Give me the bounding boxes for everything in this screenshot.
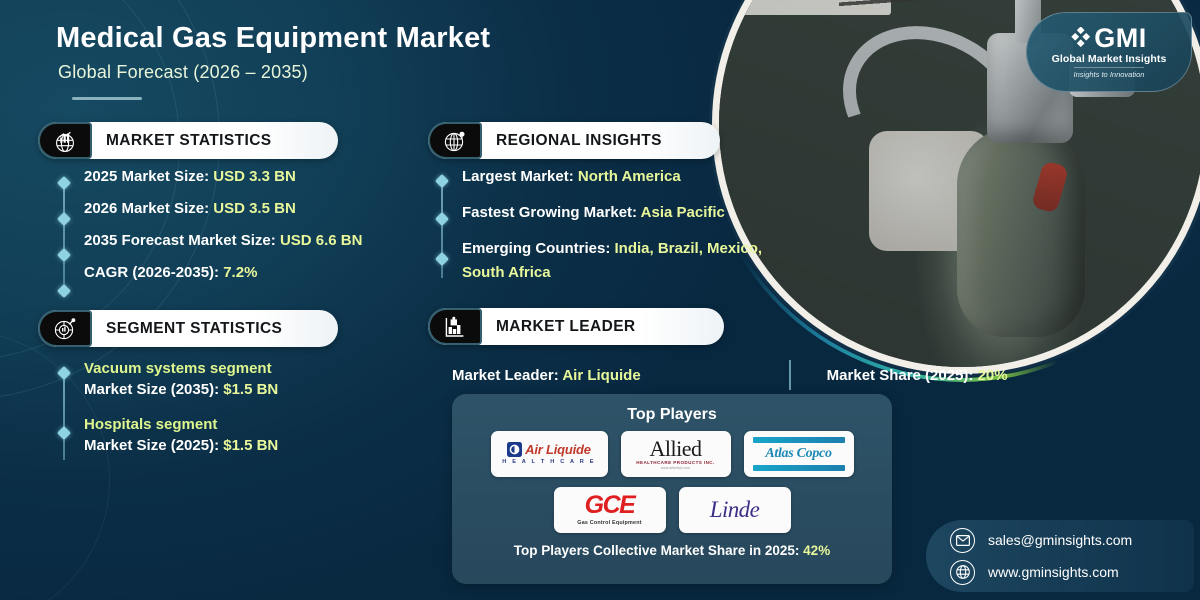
stat-value: USD 3.5 BN <box>213 200 296 217</box>
logo-linde[interactable]: Linde <box>679 487 791 533</box>
top-players-heading: Top Players <box>466 406 878 424</box>
rail-dot <box>57 176 71 190</box>
stat-label: 2025 Market Size: <box>84 168 213 185</box>
gce-mark: GCE Gas Control Equipment <box>577 493 641 526</box>
allied-name: Allied <box>649 438 701 460</box>
region-row-emerging: Emerging Countries: India, Brazil, Mexic… <box>462 240 762 257</box>
rail-dot <box>57 212 71 226</box>
logo-row-1: Air Liquide H E A L T H C A R E Allied H… <box>466 431 878 477</box>
stat-value: 7.2% <box>223 264 257 281</box>
diamond-logo-icon <box>1071 27 1091 51</box>
air-liquide-top: Air Liquide <box>507 442 591 457</box>
region-row-fastest: Fastest Growing Market: Asia Pacific <box>462 204 762 221</box>
allied-url: www.alliedhpi.com <box>661 467 691 471</box>
logo-allied-healthcare[interactable]: Allied HEALTHCARE PRODUCTS INC. www.alli… <box>621 431 731 477</box>
section-header-regional-insights: REGIONAL INSIGHTS <box>428 122 720 159</box>
segment-title: Vacuum systems segment <box>84 360 278 377</box>
market-statistics-list: 2025 Market Size: USD 3.3 BN 2026 Market… <box>58 168 362 296</box>
region-value-continued: South Africa <box>462 264 762 281</box>
rail-dot <box>435 212 449 226</box>
market-leader-name: Market Leader: Air Liquide <box>452 367 641 384</box>
rail-dot <box>435 174 449 188</box>
market-leader-row: Market Leader: Air Liquide Market Share … <box>452 360 1072 390</box>
segment-label: Market Size (2025): <box>84 437 223 454</box>
allied-mark: Allied HEALTHCARE PRODUCTS INC. www.alli… <box>636 438 714 470</box>
atlas-copco-name: Atlas Copco <box>765 446 831 462</box>
rail-dot <box>57 284 71 298</box>
bullet-rail <box>58 366 70 466</box>
rail-dot <box>57 248 71 262</box>
air-liquide-name: Air Liquide <box>525 443 591 456</box>
atlas-copco-mark: Atlas Copco <box>753 437 845 471</box>
segment-statistics-list: Vacuum systems segment Market Size (2035… <box>58 360 278 472</box>
segment-group-hospitals: Hospitals segment Market Size (2025): $1… <box>84 416 278 454</box>
globe-icon <box>950 560 975 585</box>
gce-sub: Gas Control Equipment <box>577 521 641 526</box>
gmi-logo-badge: GMI Global Market Insights Insights to I… <box>1026 12 1192 92</box>
region-value: North America <box>578 168 681 185</box>
globe-bar-chart-icon <box>38 122 92 159</box>
regional-insights-rows: Largest Market: North America Fastest Gr… <box>448 168 762 300</box>
logo-gce[interactable]: GCE Gas Control Equipment <box>554 487 666 533</box>
gmi-wordmark: GMI <box>1094 25 1147 52</box>
segment-row: Market Size (2035): $1.5 BN <box>84 381 278 398</box>
section-header-market-leader: MARKET LEADER <box>428 308 724 345</box>
segment-label: Market Size (2035): <box>84 381 223 398</box>
atlas-copco-bar-top <box>753 437 845 443</box>
region-label: Emerging Countries: <box>462 240 615 257</box>
top-players-panel: Top Players Air Liquide H E A L T H C A … <box>452 394 892 584</box>
logo-row-2: GCE Gas Control Equipment Linde <box>466 487 878 533</box>
market-statistics-rows: 2025 Market Size: USD 3.3 BN 2026 Market… <box>70 168 362 296</box>
rail-line <box>63 180 65 290</box>
contact-website: www.gminsights.com <box>988 564 1119 580</box>
segment-value: $1.5 BN <box>223 381 278 398</box>
linde-name: Linde <box>710 497 759 523</box>
region-label: Largest Market: <box>462 168 578 185</box>
title-underline <box>72 97 142 100</box>
pie-chart-segment-icon <box>38 310 92 347</box>
segment-value: $1.5 BN <box>223 437 278 454</box>
segment-group-vacuum: Vacuum systems segment Market Size (2035… <box>84 360 278 398</box>
atlas-copco-bar-bottom <box>753 465 845 471</box>
regional-insights-list: Largest Market: North America Fastest Gr… <box>436 168 762 300</box>
air-liquide-sub: H E A L T H C A R E <box>502 460 595 466</box>
air-liquide-mark: Air Liquide H E A L T H C A R E <box>502 442 595 466</box>
segment-title: Hospitals segment <box>84 416 278 433</box>
market-share: Market Share (2025): 20% <box>827 367 1008 384</box>
market-leader-value: Air Liquide <box>562 367 640 384</box>
rail-line <box>63 372 65 460</box>
collective-share-label: Top Players Collective Market Share in 2… <box>514 543 803 558</box>
contact-email-row[interactable]: sales@gminsights.com <box>950 528 1194 553</box>
allied-sub: HEALTHCARE PRODUCTS INC. <box>636 461 714 466</box>
segment-statistics-rows: Vacuum systems segment Market Size (2035… <box>70 360 278 472</box>
page-title: Medical Gas Equipment Market <box>56 22 490 55</box>
section-title-market-leader: MARKET LEADER <box>482 318 636 336</box>
contact-email: sales@gminsights.com <box>988 532 1132 548</box>
stat-label: CAGR (2026-2035): <box>84 264 223 281</box>
bullet-rail <box>436 174 448 284</box>
section-header-segment-statistics: SEGMENT STATISTICS <box>38 310 338 347</box>
top-players-footer: Top Players Collective Market Share in 2… <box>466 543 878 558</box>
region-label: Fastest Growing Market: <box>462 204 641 221</box>
contact-block: sales@gminsights.com www.gminsights.com <box>926 520 1194 592</box>
segment-row: Market Size (2025): $1.5 BN <box>84 437 278 454</box>
rail-dot <box>57 366 71 380</box>
infographic-canvas: Medical Gas Equipment Market Global Fore… <box>0 0 1200 600</box>
contact-website-row[interactable]: www.gminsights.com <box>950 560 1194 585</box>
stat-value: USD 6.6 BN <box>280 232 363 249</box>
bullet-rail <box>58 174 70 296</box>
gmi-logo-top: GMI <box>1071 25 1147 52</box>
page-subtitle: Global Forecast (2026 – 2035) <box>58 62 308 83</box>
gmi-company-name: Global Market Insights <box>1052 53 1167 65</box>
market-share-label: Market Share (2025): <box>827 367 978 384</box>
region-value: India, Brazil, Mexico, <box>615 240 763 257</box>
gmi-tagline: Insights to Innovation <box>1074 67 1145 79</box>
stat-value: USD 3.3 BN <box>213 168 296 185</box>
podium-leader-icon <box>428 308 482 345</box>
section-title-market-statistics: MARKET STATISTICS <box>92 132 272 150</box>
section-title-regional-insights: REGIONAL INSIGHTS <box>482 132 662 150</box>
stat-row-2025: 2025 Market Size: USD 3.3 BN <box>84 168 362 185</box>
stat-label: 2026 Market Size: <box>84 200 213 217</box>
rail-dot <box>435 252 449 266</box>
stat-row-cagr: CAGR (2026-2035): 7.2% <box>84 264 362 281</box>
logo-air-liquide[interactable]: Air Liquide H E A L T H C A R E <box>491 431 608 477</box>
logo-atlas-copco[interactable]: Atlas Copco <box>744 431 854 477</box>
stat-label: 2035 Forecast Market Size: <box>84 232 280 249</box>
stat-row-2035: 2035 Forecast Market Size: USD 6.6 BN <box>84 232 362 249</box>
gce-name: GCE <box>585 493 635 518</box>
market-share-value: 20% <box>978 367 1008 384</box>
air-liquide-icon <box>507 442 522 457</box>
globe-pin-icon <box>428 122 482 159</box>
envelope-icon <box>950 528 975 553</box>
section-title-segment-statistics: SEGMENT STATISTICS <box>92 320 282 338</box>
market-leader-label: Market Leader: <box>452 367 562 384</box>
rail-dot <box>57 426 71 440</box>
section-header-market-statistics: MARKET STATISTICS <box>38 122 338 159</box>
stat-row-2026: 2026 Market Size: USD 3.5 BN <box>84 200 362 217</box>
region-value: Asia Pacific <box>641 204 725 221</box>
collective-share-value: 42% <box>803 543 830 558</box>
region-row-largest: Largest Market: North America <box>462 168 762 185</box>
vertical-divider <box>789 360 791 390</box>
